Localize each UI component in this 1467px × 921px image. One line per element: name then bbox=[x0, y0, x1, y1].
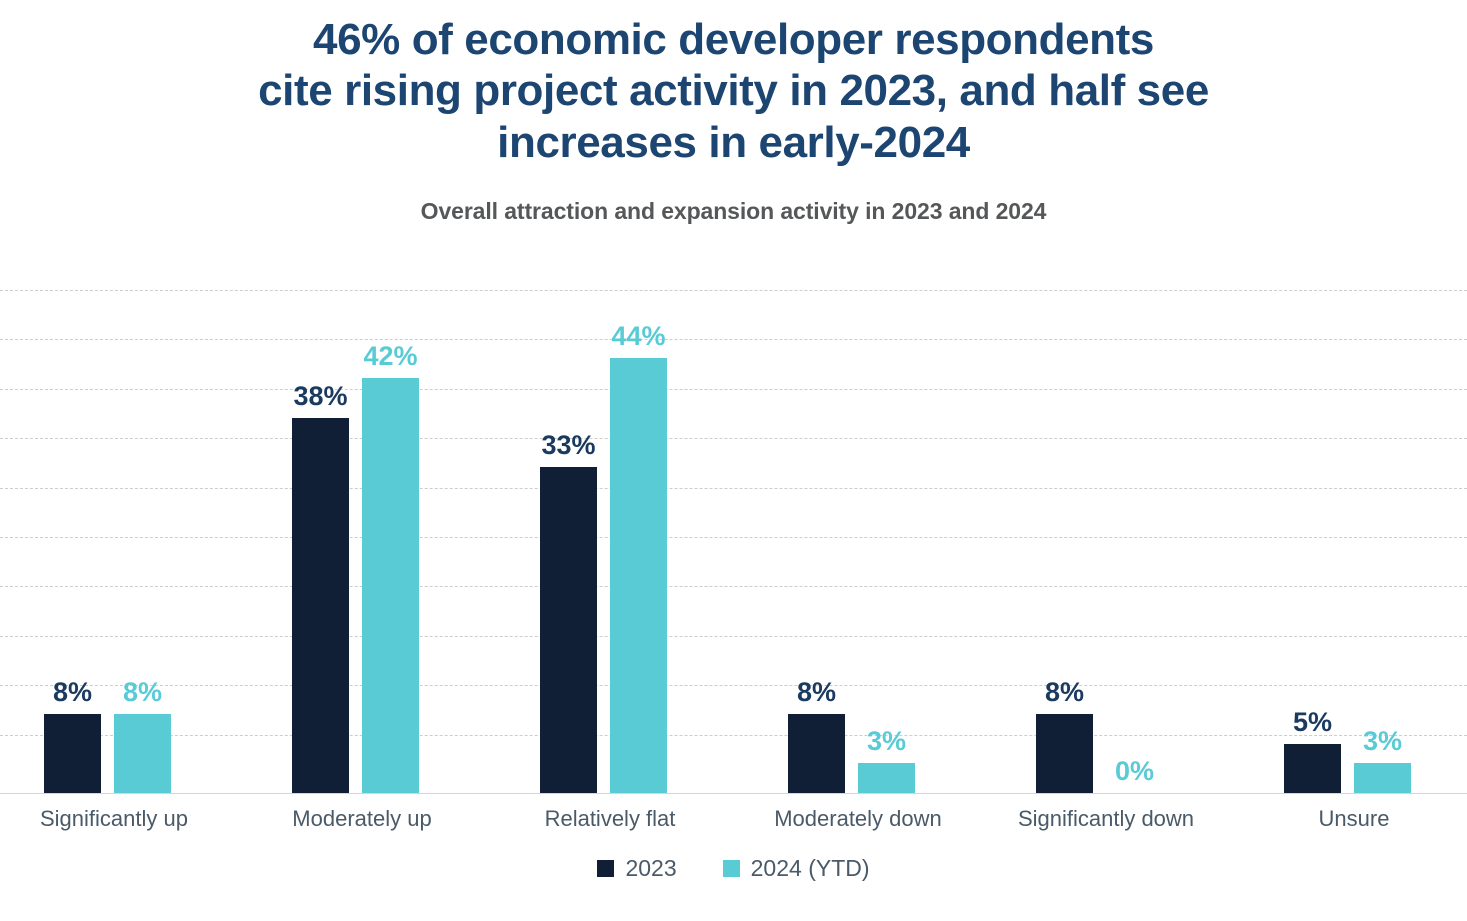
bar-group: 38%42% bbox=[262, 290, 462, 793]
bar-group: 33%44% bbox=[510, 290, 710, 793]
bar-group: 5%3% bbox=[1254, 290, 1454, 793]
category-label: Significantly down bbox=[996, 806, 1216, 832]
bar-group: 8%0% bbox=[1006, 290, 1206, 793]
bar-value-label: 42% bbox=[348, 341, 433, 372]
chart-legend: 20232024 (YTD) bbox=[0, 855, 1467, 882]
bar-2023 bbox=[540, 467, 597, 793]
legend-swatch-icon bbox=[723, 860, 740, 877]
bar-value-label: 8% bbox=[100, 677, 185, 708]
chart-subtitle: Overall attraction and expansion activit… bbox=[0, 198, 1467, 225]
bar-group: 8%3% bbox=[758, 290, 958, 793]
bar-2023 bbox=[788, 714, 845, 793]
bar-2024-ytd bbox=[610, 358, 667, 793]
bars-layer: 8%8%38%42%33%44%8%3%8%0%5%3% bbox=[0, 290, 1467, 793]
category-label: Moderately down bbox=[748, 806, 968, 832]
bar-2023 bbox=[44, 714, 101, 793]
category-label: Relatively flat bbox=[500, 806, 720, 832]
category-label: Unsure bbox=[1244, 806, 1464, 832]
bar-value-label: 44% bbox=[596, 321, 681, 352]
legend-swatch-icon bbox=[597, 860, 614, 877]
bar-2024-ytd bbox=[114, 714, 171, 793]
bar-value-label: 38% bbox=[278, 381, 363, 412]
legend-label: 2024 (YTD) bbox=[751, 855, 870, 882]
x-axis-labels: Significantly upModerately upRelatively … bbox=[0, 806, 1467, 846]
chart-header: 46% of economic developer respondents ci… bbox=[0, 0, 1467, 225]
category-label: Significantly up bbox=[4, 806, 224, 832]
bar-value-label: 33% bbox=[526, 430, 611, 461]
legend-item[interactable]: 2024 (YTD) bbox=[723, 855, 870, 882]
bar-value-label: 3% bbox=[844, 726, 929, 757]
bar-group: 8%8% bbox=[14, 290, 214, 793]
x-axis-line bbox=[0, 793, 1467, 794]
bar-value-label: 3% bbox=[1340, 726, 1425, 757]
bar-value-label: 0% bbox=[1092, 756, 1177, 787]
bar-2024-ytd bbox=[1354, 763, 1411, 793]
legend-item[interactable]: 2023 bbox=[597, 855, 676, 882]
bar-2024-ytd bbox=[362, 378, 419, 793]
category-label: Moderately up bbox=[252, 806, 472, 832]
page-title: 46% of economic developer respondents ci… bbox=[34, 14, 1434, 168]
legend-label: 2023 bbox=[625, 855, 676, 882]
bar-2024-ytd bbox=[858, 763, 915, 793]
bar-2023 bbox=[1036, 714, 1093, 793]
bar-2023 bbox=[292, 418, 349, 793]
bar-value-label: 8% bbox=[1022, 677, 1107, 708]
bar-2023 bbox=[1284, 744, 1341, 793]
bar-value-label: 8% bbox=[774, 677, 859, 708]
